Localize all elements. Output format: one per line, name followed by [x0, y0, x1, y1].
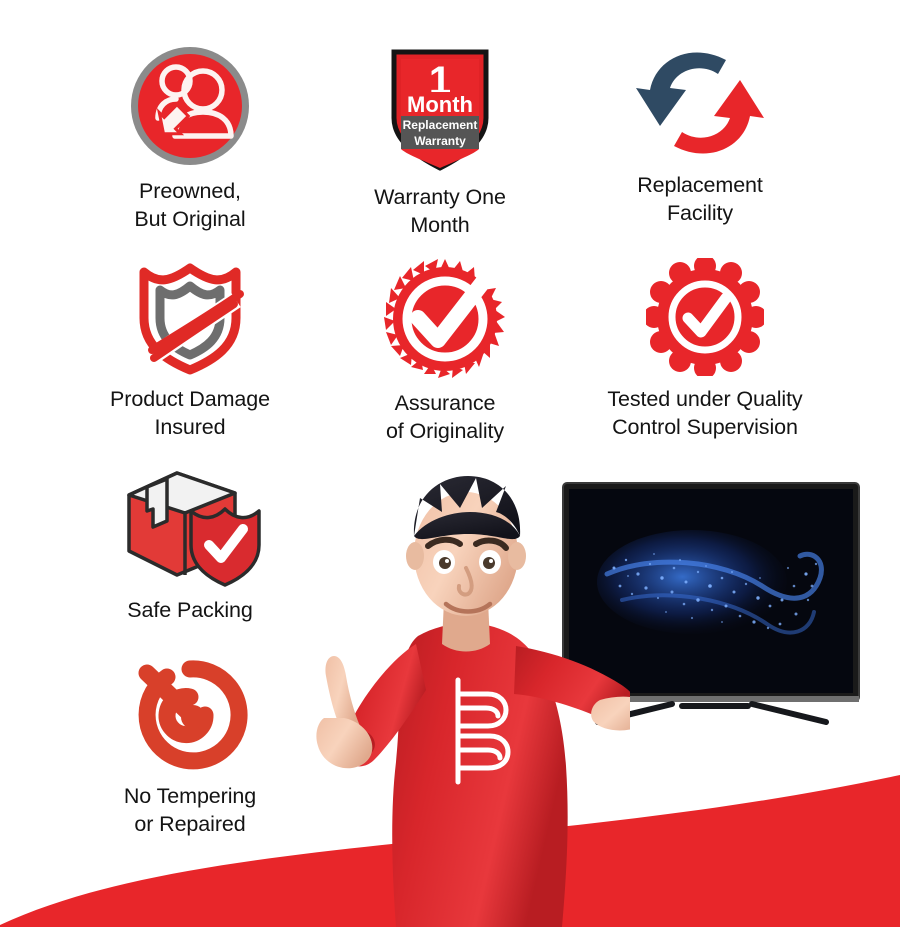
feature-replacement: Replacement Facility [570, 44, 830, 227]
tv-stand [598, 704, 826, 722]
quality-seal-check-icon [646, 258, 764, 376]
feature-caption: Replacement Facility [637, 172, 763, 227]
feature-damage: Product Damage Insured [55, 258, 325, 441]
feature-warranty: 1 Month Replacement Warranty Warranty On… [340, 44, 540, 239]
feature-caption: Preowned, But Original [134, 178, 245, 233]
preowned-user-transfer-icon [128, 44, 252, 168]
warranty-warranty-label: Warranty [414, 134, 466, 148]
starburst-check-badge-icon [382, 258, 508, 380]
hero-scene [0, 430, 900, 927]
feature-preowned: Preowned, But Original [60, 44, 320, 233]
feature-tested: Tested under Quality Control Supervision [560, 258, 850, 441]
warranty-replacement-label: Replacement [403, 118, 478, 132]
damaged-shield-icon [130, 258, 250, 376]
feature-assurance: Assurance of Originality [345, 258, 545, 445]
warranty-period: Month [407, 92, 473, 117]
banner-root: Preowned, But Original 1 Month Replaceme… [0, 0, 900, 927]
feature-caption: Warranty One Month [374, 184, 506, 239]
replacement-circular-arrows-icon [630, 44, 770, 162]
brand-mascot [300, 450, 630, 927]
warranty-shield-badge-icon: 1 Month Replacement Warranty [384, 44, 496, 174]
